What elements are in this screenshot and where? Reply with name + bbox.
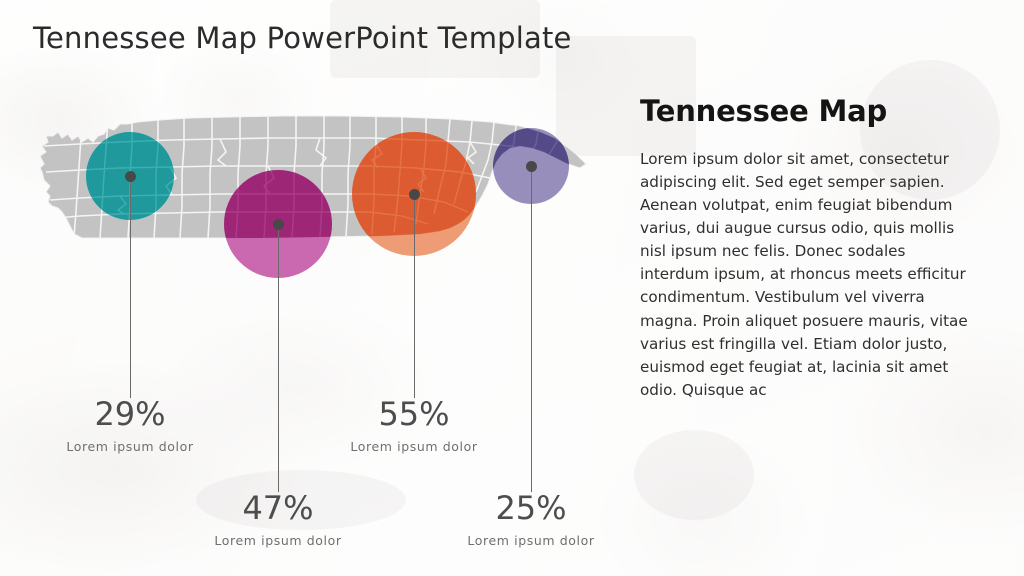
marker-orange-stat-value: 55% [304,398,524,430]
marker-teal-stat-value: 29% [20,398,240,430]
background-blur-blob [634,430,754,520]
marker-orange-leader-line [414,194,415,398]
marker-magenta-dot[interactable] [273,219,284,230]
marker-teal-stat-block: 29%Lorem ipsum dolor [20,398,240,454]
panel-heading: Tennessee Map [640,96,976,128]
marker-magenta-stat-block: 47%Lorem ipsum dolor [168,492,388,548]
panel-body-text: Lorem ipsum dolor sit amet, consectetur … [640,148,976,402]
marker-magenta-stat-value: 47% [168,492,388,524]
marker-purple-stat-caption: Lorem ipsum dolor [421,533,641,548]
marker-teal-stat-caption: Lorem ipsum dolor [20,439,240,454]
info-panel: Tennessee Map Lorem ipsum dolor sit amet… [640,96,976,402]
marker-purple-dot[interactable] [526,161,537,172]
marker-purple-stat-block: 25%Lorem ipsum dolor [421,492,641,548]
marker-purple-leader-line [531,166,532,492]
marker-teal-leader-line [130,176,131,398]
marker-orange-stat-block: 55%Lorem ipsum dolor [304,398,524,454]
slide-canvas: Tennessee Map PowerPoint Template [0,0,1024,576]
marker-orange-stat-caption: Lorem ipsum dolor [304,439,524,454]
marker-orange-dot[interactable] [409,189,420,200]
marker-teal-dot[interactable] [125,171,136,182]
marker-purple-stat-value: 25% [421,492,641,524]
marker-magenta-leader-line [278,224,279,492]
slide-title: Tennessee Map PowerPoint Template [33,21,572,55]
marker-magenta-stat-caption: Lorem ipsum dolor [168,533,388,548]
